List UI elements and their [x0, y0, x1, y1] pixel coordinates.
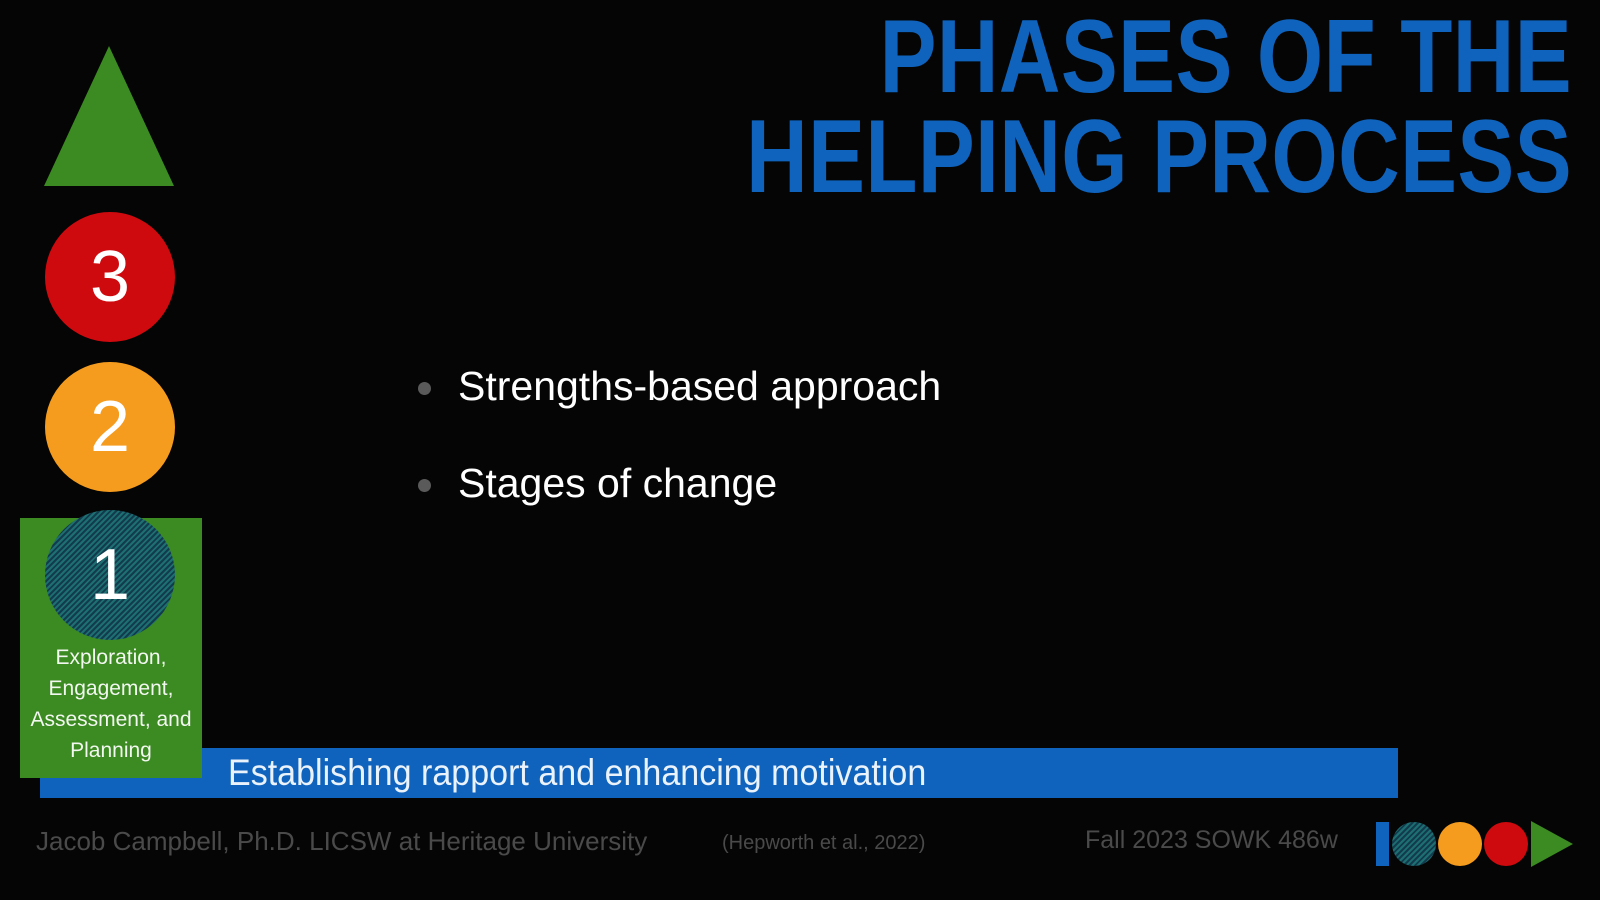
list-item: Strengths-based approach: [418, 362, 1418, 411]
title-line-1: PHASES OF THE: [670, 8, 1572, 108]
presentation-slide: PHASES OF THE HELPING PROCESS 3 2 1 Expl…: [0, 0, 1600, 900]
blue-bar-icon: [1376, 822, 1389, 866]
phase-stack: 3 2 1 Exploration, Engagement, Assessmen…: [0, 0, 230, 800]
orange-circle-icon: [1438, 822, 1482, 866]
bullet-dot-icon: [418, 479, 431, 492]
green-triangle-right-icon: [1531, 821, 1573, 867]
brand-logo: [1376, 820, 1573, 868]
bullet-list: Strengths-based approach Stages of chang…: [418, 362, 1418, 556]
title-line-2: HELPING PROCESS: [670, 108, 1572, 208]
bullet-dot-icon: [418, 382, 431, 395]
triangle-up-icon: [44, 46, 174, 186]
list-item: Stages of change: [418, 459, 1418, 508]
hatched-teal-circle-icon: 1: [45, 510, 175, 640]
phase-3-number: 3: [90, 236, 130, 318]
phase-2-circle: 2: [45, 362, 175, 492]
banner-text: Establishing rapport and enhancing motiv…: [228, 748, 926, 798]
footer-author: Jacob Campbell, Ph.D. LICSW at Heritage …: [36, 826, 647, 857]
phase-1-circle-wrapper: 1: [45, 510, 175, 640]
red-circle-icon: [1484, 822, 1528, 866]
phase-2-number: 2: [90, 386, 130, 468]
footer-citation: (Hepworth et al., 2022): [722, 832, 925, 855]
bullet-text: Stages of change: [458, 459, 777, 508]
phase-1-number: 1: [90, 539, 130, 611]
phase-1-label: Exploration, Engagement, Assessment, and…: [20, 642, 202, 766]
slide-footer: Jacob Campbell, Ph.D. LICSW at Heritage …: [0, 818, 1600, 878]
footer-course: Fall 2023 SOWK 486w: [1085, 826, 1338, 855]
phase-3-circle: 3: [45, 212, 175, 342]
bullet-text: Strengths-based approach: [458, 362, 941, 411]
slide-title: PHASES OF THE HELPING PROCESS: [472, 8, 1572, 208]
hatched-teal-circle-icon: [1392, 822, 1436, 866]
